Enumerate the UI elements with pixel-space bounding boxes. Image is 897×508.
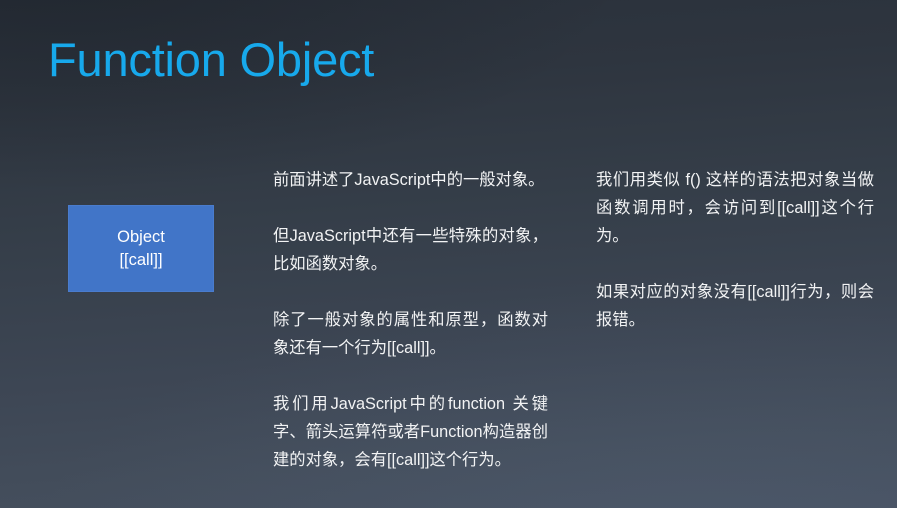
paragraph: 如果对应的对象没有[[call]]行为，则会报错。 [596,278,874,334]
paragraph: 前面讲述了JavaScript中的一般对象。 [273,166,548,194]
object-box-label-call: [[call]] [119,249,162,272]
paragraph: 我们用类似 f() 这样的语法把对象当做函数调用时，会访问到[[call]]这个… [596,166,874,250]
slide-content: Function Object Object [[call]] 前面讲述了Jav… [0,0,897,508]
object-call-box: Object [[call]] [68,205,214,292]
text-column-left: 前面讲述了JavaScript中的一般对象。 但JavaScript中还有一些特… [273,166,548,474]
paragraph: 除了一般对象的属性和原型，函数对象还有一个行为[[call]]。 [273,306,548,362]
paragraph: 但JavaScript中还有一些特殊的对象，比如函数对象。 [273,222,548,278]
slide-canvas: Function Object Object [[call]] 前面讲述了Jav… [0,0,897,508]
object-box-label-object: Object [117,226,165,249]
page-title: Function Object [48,30,374,90]
paragraph: 我们用JavaScript中的function 关键字、箭头运算符或者Funct… [273,390,548,474]
text-column-right: 我们用类似 f() 这样的语法把对象当做函数调用时，会访问到[[call]]这个… [596,166,874,334]
